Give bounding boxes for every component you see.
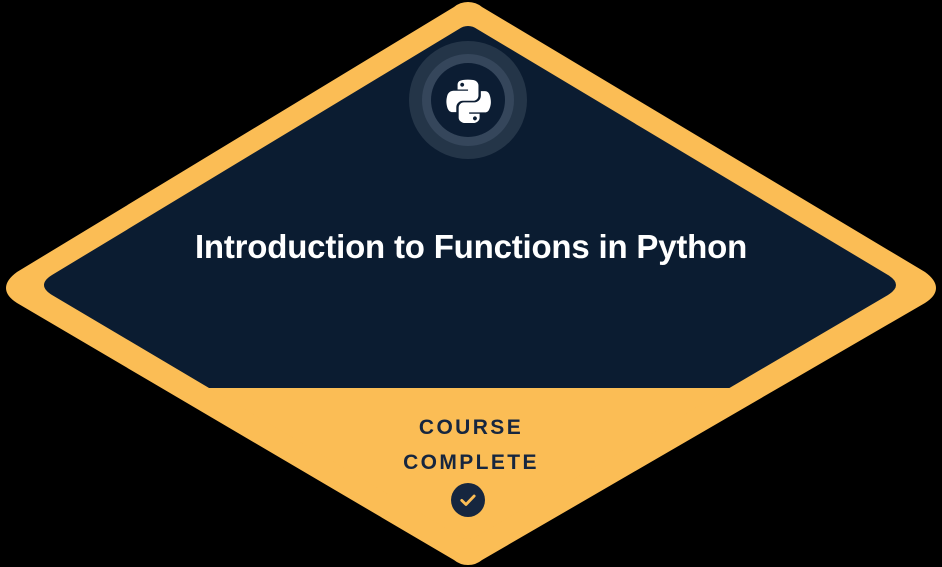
course-title: Introduction to Functions in Python	[171, 224, 771, 270]
check-circle-icon	[451, 483, 485, 517]
python-logo-icon	[445, 77, 491, 123]
status-line-complete: COMPLETE	[271, 445, 671, 480]
certificate-badge: Introduction to Functions in Python COUR…	[0, 0, 942, 567]
check-circle-background	[451, 483, 485, 517]
emblem	[409, 41, 527, 159]
check-mark-icon	[458, 490, 478, 510]
status-line-course: COURSE	[271, 410, 671, 445]
completion-status: COURSE COMPLETE	[271, 410, 671, 480]
